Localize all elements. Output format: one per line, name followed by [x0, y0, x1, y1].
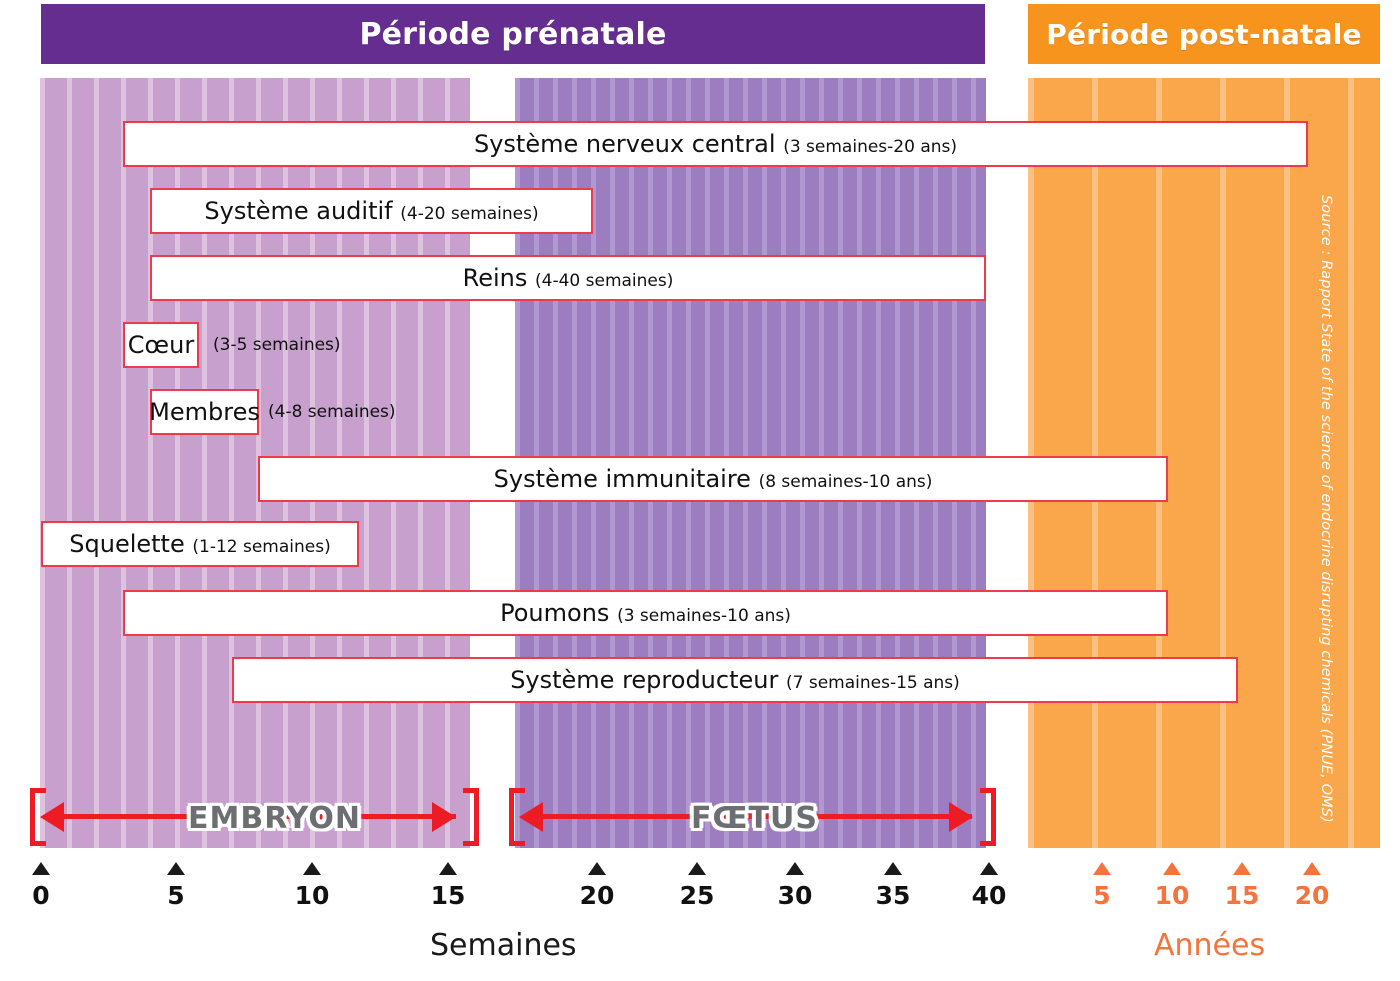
bar-systeme-auditif[interactable]: Système auditif (4-20 semaines): [150, 188, 593, 234]
embryo-arrowhead-right: [432, 802, 456, 832]
bar-label-systeme-auditif: Système auditif (4-20 semaines): [204, 197, 538, 225]
tick-weeks-0: [32, 862, 50, 875]
bar-label-poumons: Poumons (3 semaines-10 ans): [500, 599, 791, 627]
embryo-arrowhead-left: [40, 802, 64, 832]
tick-weeks-5: [167, 862, 185, 875]
ticklabel-weeks-40: 40: [959, 881, 1019, 910]
embryo-period-label: EMBRYON: [182, 801, 367, 836]
source-credit: Source : Rapport State of the science of…: [1314, 195, 1338, 835]
axis-title-weeks: Semaines: [430, 928, 577, 963]
ticklabel-weeks-5: 5: [146, 881, 206, 910]
bar-range-coeur: (3-5 semaines): [213, 322, 341, 368]
ticklabel-years-20: 20: [1282, 881, 1342, 910]
embryo-bracket-right: [463, 788, 479, 846]
bar-label-systeme-nerveux-central: Système nerveux central (3 semaines-20 a…: [474, 130, 957, 158]
banner-prenatal-label: Période prénatale: [359, 17, 666, 52]
tick-weeks-35: [884, 862, 902, 875]
bar-label-systeme-immunitaire: Système immunitaire (8 semaines-10 ans): [494, 465, 933, 493]
bar-reins[interactable]: Reins (4-40 semaines): [150, 255, 986, 301]
tick-years-10: [1163, 862, 1181, 875]
banner-postnatal: Période post-natale: [1028, 4, 1380, 64]
tick-weeks-40: [980, 862, 998, 875]
fetus-arrowhead-left: [519, 802, 543, 832]
bar-label-coeur: Cœur: [128, 331, 194, 359]
ticklabel-years-5: 5: [1072, 881, 1132, 910]
bar-systeme-reproducteur[interactable]: Système reproducteur (7 semaines-15 ans): [232, 657, 1238, 703]
bar-label-systeme-reproducteur: Système reproducteur (7 semaines-15 ans): [510, 666, 960, 694]
tick-years-20: [1303, 862, 1321, 875]
bar-label-membres: Membres: [149, 398, 260, 426]
fetus-period-label: FŒTUS: [685, 801, 824, 836]
ticklabel-weeks-0: 0: [11, 881, 71, 910]
tick-weeks-20: [588, 862, 606, 875]
tick-weeks-25: [688, 862, 706, 875]
fetus-arrowhead-right: [949, 802, 973, 832]
tick-weeks-10: [303, 862, 321, 875]
tick-weeks-30: [786, 862, 804, 875]
ticklabel-weeks-35: 35: [863, 881, 923, 910]
fetus-bracket-right: [980, 788, 996, 846]
ticklabel-years-15: 15: [1212, 881, 1272, 910]
bar-systeme-immunitaire[interactable]: Système immunitaire (8 semaines-10 ans): [258, 456, 1168, 502]
ticklabel-years-10: 10: [1142, 881, 1202, 910]
bar-label-squelette: Squelette (1-12 semaines): [69, 530, 330, 558]
ticklabel-weeks-30: 30: [765, 881, 825, 910]
bar-systeme-nerveux-central[interactable]: Système nerveux central (3 semaines-20 a…: [123, 121, 1308, 167]
tick-years-15: [1233, 862, 1251, 875]
bar-membres[interactable]: Membres: [150, 389, 259, 435]
ticklabel-weeks-10: 10: [282, 881, 342, 910]
bar-range-membres: (4-8 semaines): [268, 389, 396, 435]
ticklabel-weeks-25: 25: [667, 881, 727, 910]
banner-postnatal-label: Période post-natale: [1046, 18, 1361, 51]
banner-prenatal: Période prénatale: [41, 4, 985, 64]
infographic-root: Période prénatale Période post-natale So…: [0, 0, 1400, 981]
bar-poumons[interactable]: Poumons (3 semaines-10 ans): [123, 590, 1168, 636]
bar-squelette[interactable]: Squelette (1-12 semaines): [41, 521, 359, 567]
tick-years-5: [1093, 862, 1111, 875]
ticklabel-weeks-20: 20: [567, 881, 627, 910]
bar-coeur[interactable]: Cœur: [123, 322, 199, 368]
bar-label-reins: Reins (4-40 semaines): [463, 264, 674, 292]
tick-weeks-15: [439, 862, 457, 875]
axis-title-years: Années: [1154, 928, 1265, 963]
ticklabel-weeks-15: 15: [418, 881, 478, 910]
